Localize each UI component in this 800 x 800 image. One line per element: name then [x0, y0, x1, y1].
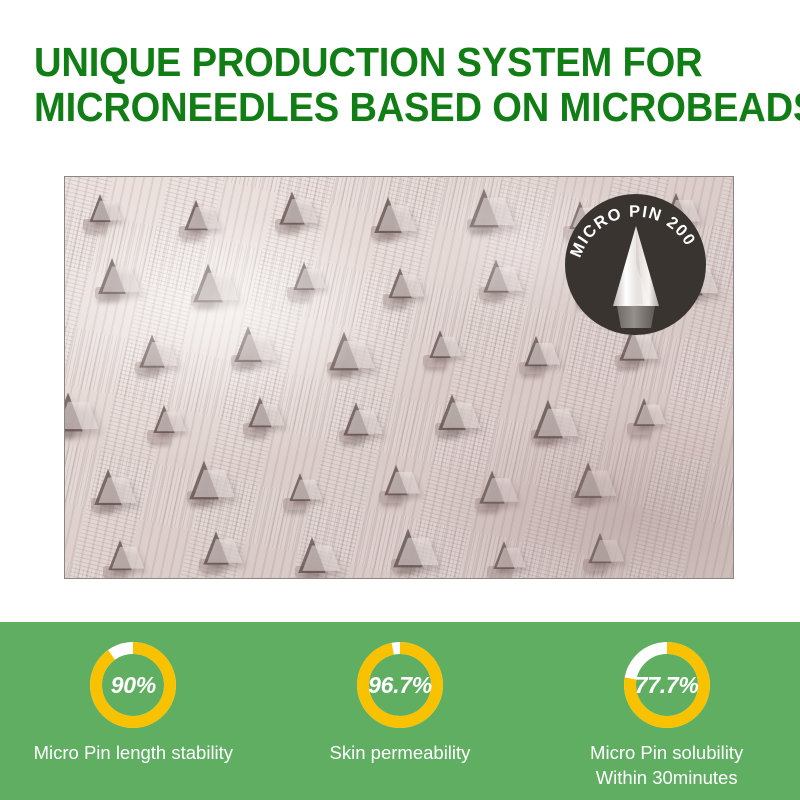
microneedle-pin	[588, 533, 611, 564]
stat-value: 90%	[88, 640, 178, 730]
microneedle-pin	[184, 200, 207, 231]
microneedle-pin	[493, 541, 514, 569]
microneedle-pin	[483, 259, 508, 292]
stat-item-3: 77.7%Micro Pin solubilityWithin 30minute…	[534, 640, 800, 790]
stat-label-line-1: Micro Pin length stability	[34, 740, 233, 765]
progress-ring: 90%	[88, 640, 178, 730]
microneedle-pin	[108, 540, 131, 571]
page-title-line-2: MICRONEEDLES BASED ON MICROBEADS	[34, 85, 715, 130]
microneedle-pin	[574, 462, 602, 498]
stat-value: 96.7%	[355, 640, 445, 730]
microneedle-pin	[429, 330, 450, 358]
microneedle-pin	[633, 398, 654, 426]
microneedle-pin	[384, 465, 407, 496]
microneedle-pin	[298, 537, 326, 573]
stats-band: 90%Micro Pin length stability96.7%Skin p…	[0, 622, 800, 800]
stat-value: 77.7%	[622, 640, 712, 730]
microneedle-pin	[139, 334, 164, 367]
microneedle-pin	[388, 268, 411, 299]
microneedle-pin	[289, 473, 310, 501]
microneedle-pin	[524, 336, 547, 367]
microneedle-pin	[343, 402, 368, 435]
stat-label-line-1: Skin permeability	[330, 740, 471, 765]
stat-label-line-1: Micro Pin solubility	[590, 740, 743, 765]
microneedle-pin	[98, 258, 126, 294]
stat-label: Skin permeability	[330, 740, 471, 765]
stat-label-line-2: Within 30minutes	[590, 765, 743, 790]
microneedle-pin	[293, 262, 314, 290]
microneedle-pin	[94, 469, 122, 505]
microneedle-pin	[64, 393, 83, 432]
microneedle-pin	[329, 332, 359, 371]
microneedle-pin	[479, 470, 504, 503]
microneedle-pin	[279, 191, 304, 224]
page-title: UNIQUE PRODUCTION SYSTEM FOR MICRONEEDLE…	[0, 40, 800, 130]
micro-pin-200-badge: MICRO PIN 200	[565, 194, 706, 335]
microneedle-pin	[248, 397, 271, 428]
microneedle-pin	[438, 394, 466, 430]
microneedle-pin	[203, 531, 228, 564]
microneedle-pin	[393, 529, 423, 568]
progress-ring: 96.7%	[355, 640, 445, 730]
microneedle-pin	[193, 264, 223, 303]
microneedle-pin	[89, 194, 110, 222]
stat-item-1: 90%Micro Pin length stability	[0, 640, 266, 765]
stats-row: 90%Micro Pin length stability96.7%Skin p…	[0, 622, 800, 800]
progress-ring: 77.7%	[622, 640, 712, 730]
stat-label: Micro Pin solubilityWithin 30minutes	[590, 740, 743, 790]
stat-item-2: 96.7%Skin permeability	[267, 640, 533, 765]
microneedle-pin	[469, 189, 499, 228]
stat-label: Micro Pin length stability	[34, 740, 233, 765]
micro-pin-needle-icon	[605, 224, 667, 332]
page-title-line-1: UNIQUE PRODUCTION SYSTEM FOR	[34, 40, 715, 85]
microneedle-pin	[374, 197, 402, 233]
microneedle-pin	[234, 326, 262, 362]
microneedle-pin	[153, 405, 174, 433]
microneedle-pin	[533, 400, 563, 439]
infographic-page: UNIQUE PRODUCTION SYSTEM FOR MICRONEEDLE…	[0, 0, 800, 800]
microneedle-pin	[189, 461, 219, 500]
